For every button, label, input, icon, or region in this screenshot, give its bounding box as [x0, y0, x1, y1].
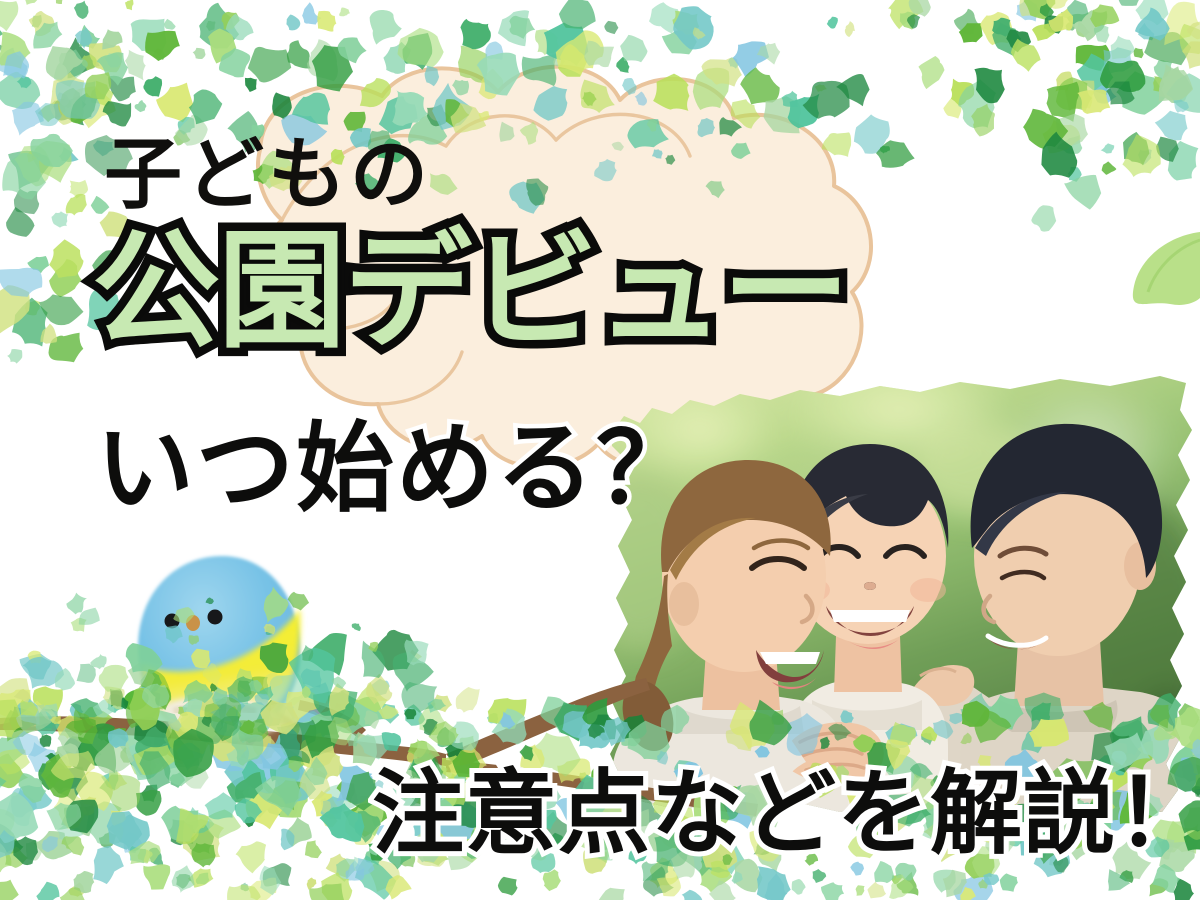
- leaf-dab: [191, 649, 210, 668]
- leaf-dab: [425, 66, 440, 87]
- leaf-dab: [522, 54, 558, 86]
- leaf-dab: [0, 0, 18, 31]
- headline-line-4: 注意点などを解説！: [372, 768, 1200, 860]
- leaf-dab: [317, 11, 336, 32]
- leaf-dab: [559, 0, 596, 29]
- leaf-dab: [103, 101, 131, 126]
- leaf-dab: [456, 687, 480, 713]
- leaf-dab: [682, 890, 703, 900]
- leaf-dab: [143, 864, 170, 889]
- leaf-dab: [49, 239, 83, 278]
- leaf-dab: [1000, 873, 1018, 891]
- leaf-dab: [25, 0, 39, 5]
- leaf-dab: [93, 846, 124, 884]
- leaf-dab: [949, 713, 963, 724]
- leaf-dab: [1064, 175, 1101, 210]
- leaf-dab: [404, 640, 428, 666]
- leaf-dab: [1101, 143, 1115, 153]
- leaf-dab: [52, 211, 69, 227]
- leaf-dab: [635, 92, 647, 106]
- headline-line-2: 公園デビュー: [92, 228, 848, 356]
- leaf-dab: [1155, 111, 1188, 141]
- leaf-dab: [236, 841, 267, 873]
- leaf-dab: [172, 865, 195, 893]
- leaf-dab: [1111, 36, 1135, 59]
- leaf-dab: [520, 121, 538, 144]
- leaf-dab: [56, 0, 64, 4]
- leaf-dab: [189, 635, 199, 645]
- leaf-dab: [612, 142, 624, 151]
- leaf-dab: [787, 713, 823, 756]
- leaf-dab: [99, 665, 129, 692]
- leaf-dab: [580, 80, 614, 114]
- leaf-dab: [821, 882, 844, 900]
- leaf-dab: [36, 882, 59, 900]
- leaf-dab: [1102, 161, 1117, 175]
- leaf-dab: [604, 21, 618, 34]
- leaf-dab: [845, 21, 855, 37]
- leaf-dab: [918, 56, 944, 89]
- leaf-dab: [749, 700, 792, 746]
- leaf-dab: [173, 607, 194, 623]
- leaf-dab: [706, 181, 725, 199]
- leaf-dab: [193, 48, 206, 59]
- leaf-dab: [332, 676, 347, 689]
- leaf-dab: [594, 159, 617, 181]
- leaf-dab: [1077, 89, 1110, 113]
- leaf-dab: [856, 885, 865, 895]
- leaf-dab: [1113, 0, 1142, 6]
- leaf-dab: [479, 111, 491, 121]
- leaf-dab: [543, 869, 561, 891]
- leaf-dab: [1031, 205, 1056, 231]
- leaf-dab: [652, 149, 663, 158]
- leaf-dab: [622, 78, 637, 95]
- leaf-dab: [1134, 48, 1144, 59]
- leaf-dab: [352, 623, 361, 631]
- leaf-dab: [498, 877, 518, 896]
- leaf-dab: [145, 31, 180, 61]
- leaf-dab: [867, 882, 886, 899]
- leaf-dab: [597, 888, 625, 900]
- leaf-dab: [286, 15, 300, 31]
- leaf-dab: [370, 10, 402, 45]
- leaf-dab: [264, 624, 276, 635]
- leaf-dab: [827, 17, 838, 29]
- leaf-dab: [66, 194, 87, 216]
- leaf-dab: [820, 737, 830, 749]
- leaf-dab: [191, 843, 215, 868]
- headline-line-3: いつ始める？: [96, 420, 696, 518]
- leaf-dab: [828, 724, 852, 741]
- leaf-dab: [822, 132, 851, 157]
- leaf-dab: [108, 76, 136, 102]
- leaf-dab: [960, 733, 971, 745]
- leaf-dab: [792, 879, 806, 895]
- headline-line-1: 子どもの: [104, 136, 432, 214]
- leaf-dab: [755, 746, 770, 758]
- leaf-dab: [697, 118, 715, 137]
- leaf-dab: [309, 883, 344, 900]
- leaf-dab: [757, 866, 791, 900]
- leaf-dab: [653, 74, 689, 111]
- leaf-dab: [339, 8, 350, 17]
- leaf-dab: [7, 349, 22, 364]
- leaf-dab: [135, 100, 147, 112]
- leaf-dab: [305, 840, 322, 858]
- leaf-dab: [248, 47, 291, 83]
- leaf-dab: [125, 0, 134, 10]
- leaf-dab: [665, 155, 675, 165]
- leaf-dab: [430, 173, 458, 195]
- leaf-dab: [533, 86, 567, 121]
- leaf-dab: [206, 597, 214, 604]
- leaf-dab: [452, 80, 469, 96]
- leaf-dab: [840, 710, 854, 723]
- leaf-dab: [39, 294, 83, 325]
- leaf-dab: [260, 643, 288, 674]
- leaf-dab: [143, 76, 162, 97]
- leaf-dab: [813, 869, 827, 883]
- leaf-dab: [499, 122, 514, 142]
- thumbnail-canvas: 子どもの 公園デビュー いつ始める？ 注意点などを解説！: [0, 0, 1200, 900]
- leaf-dab: [307, 878, 317, 890]
- leaf-dab: [156, 83, 193, 123]
- leaf-dab: [1090, 4, 1119, 27]
- leaf-dab: [302, 645, 313, 661]
- leaf-dab: [165, 626, 183, 644]
- leaf-dab: [245, 78, 257, 92]
- leaf-dab: [288, 592, 310, 611]
- leaf-dab: [460, 19, 490, 49]
- leaf-dab: [164, 19, 176, 30]
- leaf-dab: [264, 587, 289, 624]
- leaf-dab: [360, 78, 391, 107]
- leaf-dab: [731, 143, 751, 159]
- leaf-dab: [74, 1, 89, 19]
- leaf-dab: [1083, 702, 1113, 732]
- leaf-dab: [0, 880, 19, 900]
- leaf-dab: [125, 50, 146, 81]
- leaf-dab: [620, 35, 647, 62]
